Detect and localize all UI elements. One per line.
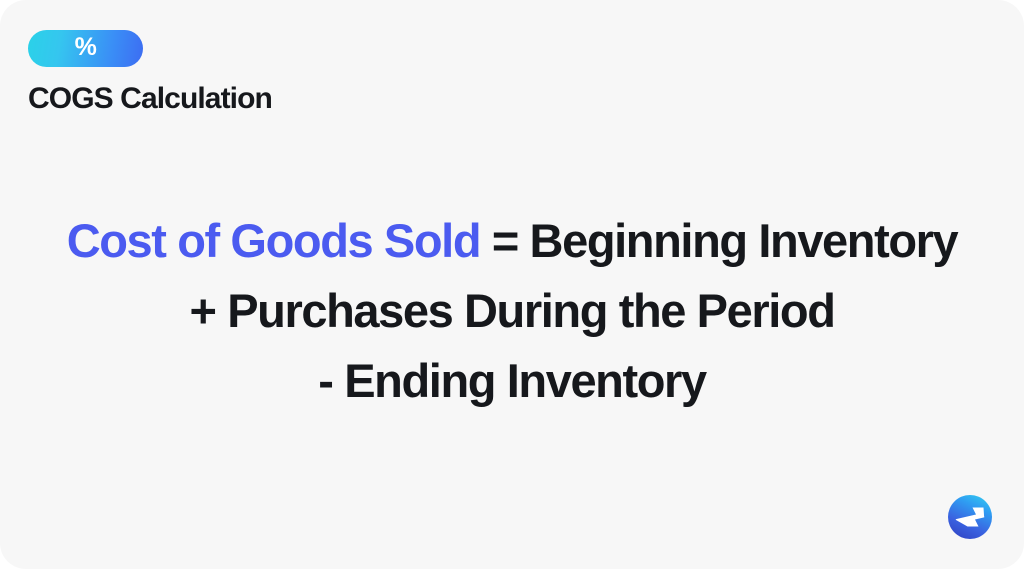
formula-line-2: + Purchases During the Period bbox=[40, 276, 984, 346]
lightning-bolt-logo bbox=[948, 495, 992, 539]
formula-subject: Cost of Goods Sold bbox=[67, 214, 480, 267]
formula-term-2: Purchases During the Period bbox=[227, 284, 834, 337]
lightning-bolt-icon bbox=[948, 495, 992, 539]
formula-line-1: Cost of Goods Sold = Beginning Inventory bbox=[40, 206, 984, 276]
slide-header: % COGS Calculation bbox=[28, 30, 272, 115]
formula-term-3: Ending Inventory bbox=[344, 354, 705, 407]
slide-card: % COGS Calculation Cost of Goods Sold = … bbox=[0, 0, 1024, 569]
formula-block: Cost of Goods Sold = Beginning Inventory… bbox=[0, 206, 1024, 416]
percent-badge: % bbox=[28, 30, 143, 67]
formula-line-3: - Ending Inventory bbox=[40, 346, 984, 416]
formula-operator-1: = bbox=[492, 214, 518, 267]
page-title: COGS Calculation bbox=[28, 82, 272, 115]
formula-operator-3: - bbox=[318, 354, 332, 407]
formula-operator-2: + bbox=[189, 284, 215, 337]
formula-term-1: Beginning Inventory bbox=[530, 214, 958, 267]
percent-icon: % bbox=[75, 35, 97, 60]
